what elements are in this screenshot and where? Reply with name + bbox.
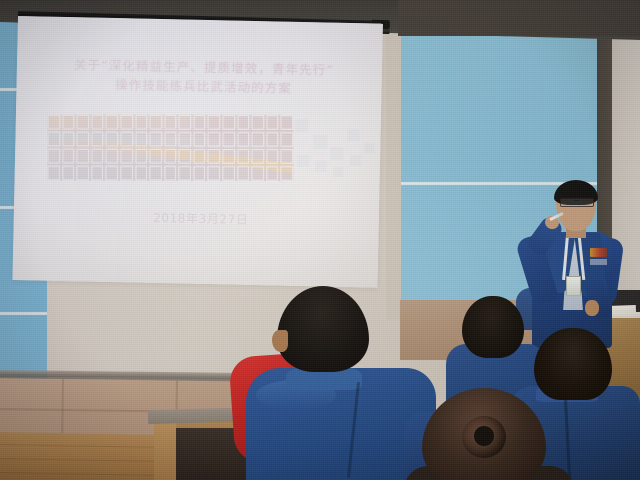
photo-scene: 关于“深化精益生产、提质增效，青年先行” 操作技能练兵比武活动的方案 — [0, 0, 640, 480]
presenter-chest-patch — [590, 248, 607, 257]
projection-screen: 关于“深化精益生产、提质增效，青年先行” 操作技能练兵比武活动的方案 — [12, 16, 382, 288]
slide-date: 2018年3月27日 — [48, 207, 354, 230]
presenter-chest-pocket — [590, 259, 607, 265]
presenter-right-hand — [585, 300, 599, 316]
presenter-id-badge — [566, 276, 581, 296]
glasses-icon — [560, 198, 594, 207]
slide-title: 关于“深化精益生产、提质增效，青年先行” 操作技能练兵比武活动的方案 — [50, 55, 357, 99]
ceiling-band-right — [398, 0, 640, 36]
slide-mosaic-graphic — [47, 115, 347, 182]
mosaic-grid — [47, 115, 293, 181]
